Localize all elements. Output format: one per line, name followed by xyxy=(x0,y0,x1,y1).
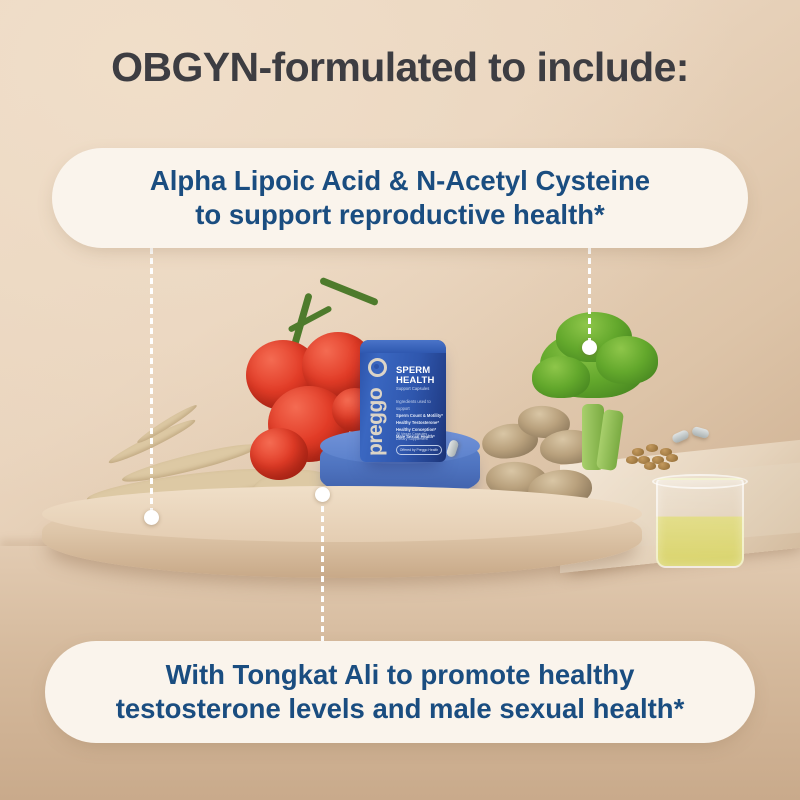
connector-line-left xyxy=(150,248,153,520)
marketing-image: preggo SPERM HEALTH Support Capsules Ing… xyxy=(0,0,800,800)
callout-top-text: Alpha Lipoic Acid & N-Acetyl Cysteine to… xyxy=(150,164,650,233)
jar-brand-name: preggo xyxy=(362,364,390,456)
product-jar: preggo SPERM HEALTH Support Capsules Ing… xyxy=(360,340,446,462)
jar-product-subtitle: Support Capsules xyxy=(396,387,444,392)
jar-product-title: SPERM HEALTH xyxy=(396,366,444,387)
callout-bottom-line2: testosterone levels and male sexual heal… xyxy=(116,692,685,726)
callout-card-top: Alpha Lipoic Acid & N-Acetyl Cysteine to… xyxy=(52,148,748,248)
jar-lid xyxy=(360,340,446,353)
jar-benefit-lead: Ingredients used to support xyxy=(396,398,444,412)
connector-dot-right xyxy=(582,340,597,355)
connector-line-right xyxy=(588,248,591,350)
display-podium-top xyxy=(42,486,642,542)
callout-bottom-text: With Tongkat Ali to promote healthy test… xyxy=(116,658,685,727)
callout-top-line2: to support reproductive health* xyxy=(150,198,650,232)
callout-card-bottom: With Tongkat Ali to promote healthy test… xyxy=(45,641,755,743)
connector-dot-left xyxy=(144,510,159,525)
jar-count-text: 30 Vegan Capsules Dietary Supplement xyxy=(396,432,444,442)
connector-dot-center xyxy=(315,487,330,502)
oil-beaker-rim xyxy=(652,474,748,489)
connector-line-center xyxy=(321,496,324,642)
callout-top-line1: Alpha Lipoic Acid & N-Acetyl Cysteine xyxy=(150,164,650,198)
page-title: OBGYN-formulated to include: xyxy=(0,44,800,91)
callout-bottom-line1: With Tongkat Ali to promote healthy xyxy=(116,658,685,692)
oil-beaker xyxy=(656,478,744,568)
jar-badge: Offered by Preggo Health xyxy=(396,445,442,455)
